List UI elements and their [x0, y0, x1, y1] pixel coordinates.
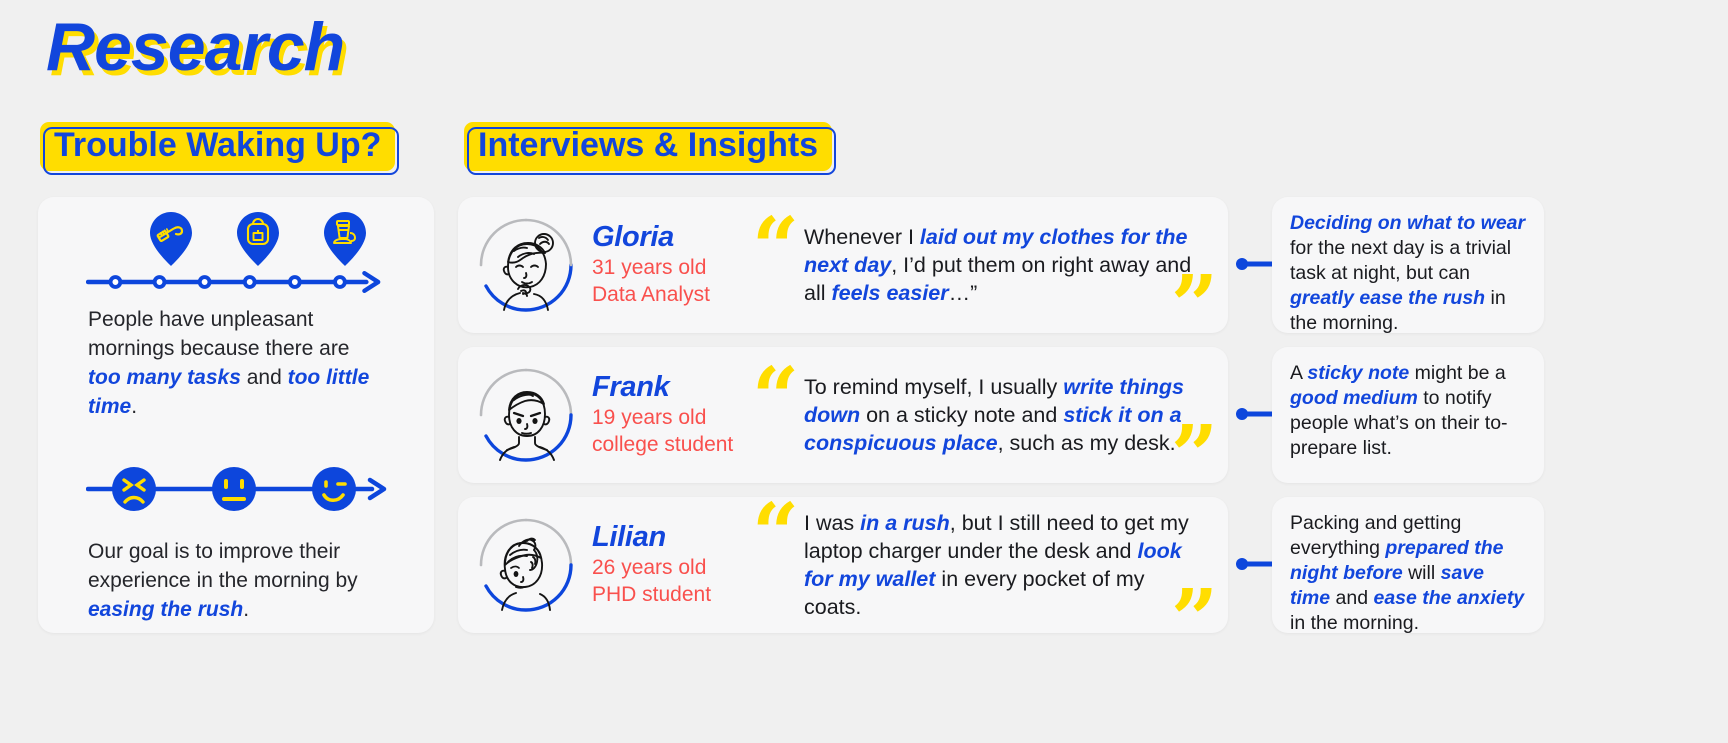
close-quote-icon: ” — [1171, 265, 1218, 347]
page-title: Research — [46, 8, 344, 86]
toothbrush-pin-icon — [148, 211, 194, 267]
person-name: Gloria — [592, 222, 748, 254]
interview-card[interactable]: Gloria 31 years old Data Analyst “Whenev… — [458, 197, 1228, 333]
section-header-trouble-waking-up: Trouble Waking Up? — [40, 122, 395, 171]
young-man-frowning-avatar — [478, 367, 574, 463]
goal-text-part1: Our goal is to improve their experience … — [88, 540, 358, 592]
insight-emphasis-1: sticky note — [1307, 362, 1409, 384]
backpack-pin-icon — [235, 211, 281, 267]
person-info: Lilian 26 years old PHD student — [592, 522, 748, 608]
insight-part3: in the morning. — [1290, 612, 1419, 634]
neutral-face-icon — [212, 467, 256, 511]
insight-card: Deciding on what to wear for the next da… — [1272, 197, 1544, 333]
person-age: 26 years old — [592, 554, 748, 581]
section-header-interviews-insights: Interviews & Insights — [464, 122, 832, 171]
left-paragraph-goal: Our goal is to improve their experience … — [38, 537, 434, 624]
research-infographic: Research Trouble Waking Up? Interviews &… — [0, 0, 1728, 743]
close-quote-icon: ” — [1171, 415, 1218, 497]
task-timeline — [38, 197, 434, 305]
open-quote-icon: “ — [752, 207, 799, 289]
goal-text-part2: . — [243, 598, 249, 621]
problem-text-part2: and — [241, 366, 288, 389]
person-age: 31 years old — [592, 254, 748, 281]
mood-timeline — [38, 447, 434, 537]
insight-part0: A — [1290, 362, 1307, 384]
interview-quote: “To remind myself, I usually write thing… — [752, 373, 1212, 457]
insight-part1: might be a — [1409, 362, 1505, 384]
insight-emphasis-3: ease the anxiety — [1373, 587, 1524, 609]
trouble-waking-up-panel: People have unpleasant mornings because … — [38, 197, 434, 633]
insight-part2: and — [1330, 587, 1373, 609]
quote-emphasis-1: in a rush — [860, 511, 950, 535]
quote-part3: …” — [949, 281, 978, 305]
insight-part1: will — [1403, 562, 1441, 584]
person-name: Frank — [592, 372, 748, 404]
person-info: Gloria 31 years old Data Analyst — [592, 222, 748, 308]
problem-emphasis-1: too many tasks — [88, 366, 241, 389]
insight-card: Packing and getting everything prepared … — [1272, 497, 1544, 633]
open-quote-icon: “ — [752, 357, 799, 439]
insight-card: A sticky note might be a good medium to … — [1272, 347, 1544, 483]
woman-stressed-avatar — [478, 517, 574, 613]
interview-card[interactable]: Frank 19 years old college student “To r… — [458, 347, 1228, 483]
quote-part1: I was — [804, 511, 860, 535]
timeline-pins — [38, 205, 434, 267]
coffee-bag-pin-icon — [322, 211, 368, 267]
person-info: Frank 19 years old college student — [592, 372, 748, 458]
interview-quote: “I was in a rush, but I still need to ge… — [752, 509, 1212, 621]
timeline-arrow — [86, 269, 386, 295]
quote-part2: on a sticky note and — [860, 403, 1063, 427]
left-paragraph-problem: People have unpleasant mornings because … — [38, 305, 434, 421]
person-name: Lilian — [592, 522, 748, 554]
person-age: 19 years old — [592, 404, 748, 431]
insight-emphasis-2: greatly ease the rush — [1290, 287, 1485, 309]
insight-emphasis-1: Deciding on what to wear — [1290, 212, 1525, 234]
person-role: college student — [592, 431, 748, 458]
wink-happy-face-icon — [312, 467, 356, 511]
interview-card[interactable]: Lilian 26 years old PHD student “I was i… — [458, 497, 1228, 633]
mood-arrow — [86, 457, 392, 521]
insight-part1: for the next day is a trivial task at ni… — [1290, 237, 1511, 284]
problem-text-part1: People have unpleasant mornings because … — [88, 308, 350, 360]
quote-part1: To remind myself, I usually — [804, 375, 1063, 399]
close-quote-icon: ” — [1171, 579, 1218, 661]
woman-thinking-avatar — [478, 217, 574, 313]
quote-emphasis-2: feels easier — [831, 281, 948, 305]
quote-part1: Whenever I — [804, 225, 920, 249]
person-role: Data Analyst — [592, 281, 748, 308]
interview-quote: “Whenever I laid out my clothes for the … — [752, 223, 1212, 307]
person-role: PHD student — [592, 581, 748, 608]
open-quote-icon: “ — [752, 493, 799, 575]
quote-part3: , such as my desk. — [998, 431, 1176, 455]
sad-face-icon — [112, 467, 156, 511]
insight-emphasis-2: good medium — [1290, 387, 1418, 409]
problem-text-part3: . — [131, 395, 137, 418]
goal-emphasis-1: easing the rush — [88, 598, 243, 621]
